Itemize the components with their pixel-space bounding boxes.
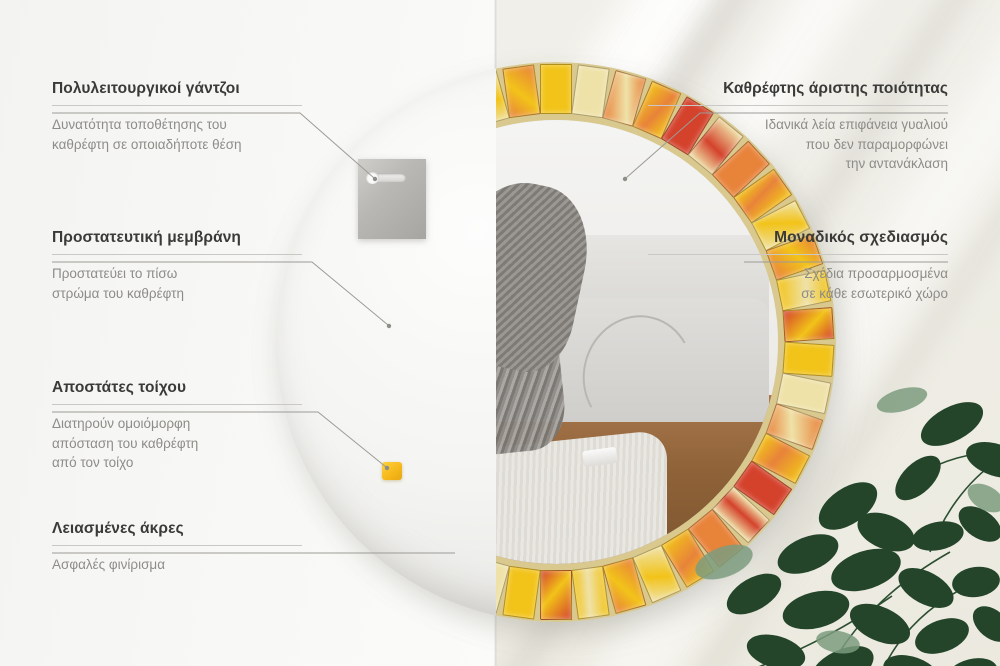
callout-quality-mirror-body: Ιδανικά λεία επιφάνεια γυαλιού που δεν π… — [648, 115, 948, 174]
callout-hooks-title: Πολυλειτουργικοί γάντζοι — [52, 80, 302, 98]
callout-quality-mirror-title: Καθρέφτης άριστης ποιότητας — [648, 80, 948, 98]
callout-spacers: Αποστάτες τοίχου Διατηρούν ομοιόμορφη απ… — [52, 379, 302, 473]
callout-quality-mirror: Καθρέφτης άριστης ποιότητας Ιδανικά λεία… — [648, 80, 948, 174]
callout-unique-design: Μοναδικός σχεδιασμός Σχέδια προσαρμοσμέν… — [648, 229, 948, 303]
mosaic-tile — [571, 566, 610, 620]
callout-edges-title: Λειασμένες άκρες — [52, 520, 302, 538]
callout-rule — [52, 254, 302, 255]
callout-spacers-body: Διατηρούν ομοιόμορφη απόσταση του καθρέφ… — [52, 414, 302, 473]
mosaic-tile — [782, 307, 834, 342]
infographic-canvas: Πολυλειτουργικοί γάντζοι Δυνατότητα τοπο… — [0, 0, 1000, 666]
callout-rule — [52, 404, 302, 405]
mosaic-tile — [502, 64, 541, 118]
callout-rule — [52, 545, 302, 546]
callout-rule — [648, 254, 948, 255]
callout-membrane-body: Προστατεύει το πίσω στρώμα του καθρέφτη — [52, 264, 302, 303]
callout-membrane-title: Προστατευτική μεμβράνη — [52, 229, 302, 247]
callout-edges: Λειασμένες άκρες Ασφαλές φινίρισμα — [52, 520, 302, 575]
callout-hooks: Πολυλειτουργικοί γάντζοι Δυνατότητα τοπο… — [52, 80, 302, 154]
callout-hooks-body: Δυνατότητα τοποθέτησης του καθρέφτη σε ο… — [52, 115, 302, 154]
callout-unique-design-body: Σχέδια προσαρμοσμένα σε κάθε εσωτερικό χ… — [648, 264, 948, 303]
wall-spacer-pad — [382, 462, 402, 480]
mounting-hook-plate — [358, 159, 426, 239]
callout-rule — [648, 105, 948, 106]
callout-membrane: Προστατευτική μεμβράνη Προστατεύει το πί… — [52, 229, 302, 303]
callout-unique-design-title: Μοναδικός σχεδιασμός — [648, 229, 948, 247]
decorative-foliage — [680, 356, 1000, 666]
callout-rule — [52, 105, 302, 106]
callout-edges-body: Ασφαλές φινίρισμα — [52, 555, 302, 575]
mosaic-tile — [502, 566, 541, 620]
mosaic-tile — [540, 570, 572, 620]
callout-spacers-title: Αποστάτες τοίχου — [52, 379, 302, 397]
mosaic-tile — [540, 64, 572, 114]
keyhole-slot-icon — [372, 173, 406, 182]
